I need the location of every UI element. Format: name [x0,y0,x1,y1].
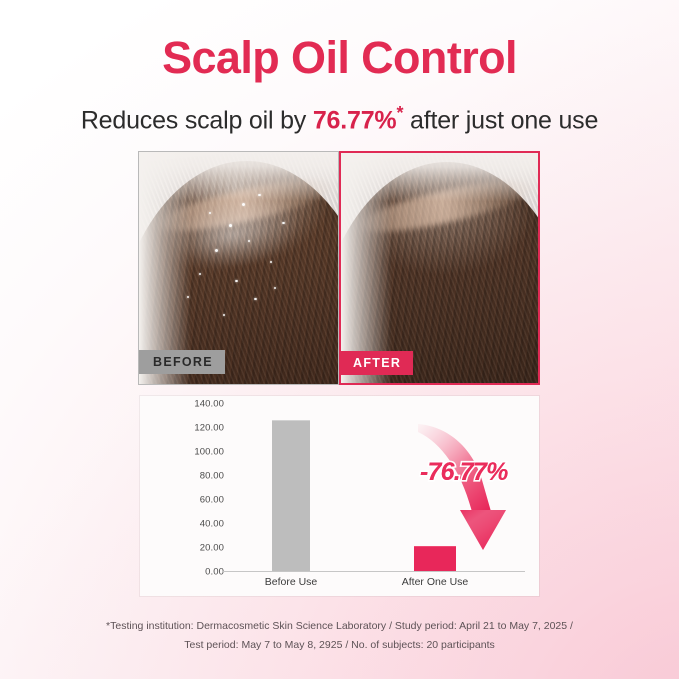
y-tick-label: 140.00 [150,399,224,410]
y-tick-label: 60.00 [150,495,224,506]
footnote: *Testing institution: Dermacosmetic Skin… [0,617,679,656]
subtitle-trail: after just one use [403,106,598,134]
arrow-head [460,510,506,550]
subtitle-highlight-value: 76.77% [313,106,397,134]
scalp-flake [187,296,189,298]
after-label-badge: AFTER [339,351,413,375]
category-label-after: After One Use [402,576,469,588]
subtitle-lead: Reduces scalp oil by [81,106,313,134]
page-title: Scalp Oil Control [0,34,679,81]
y-tick-label: 100.00 [150,447,224,458]
oil-reduction-bar-chart: 140.00120.00100.0080.0060.0040.0020.000.… [140,396,539,596]
arrow-swoosh-tail [418,424,494,522]
arrow-head-shade [460,510,506,550]
before-photo: BEFORE [138,151,339,385]
scalp-flake [282,222,285,224]
reduction-percentage-outline: -76.77% [420,458,508,487]
reduction-percentage: -76.77% [420,458,508,487]
y-axis-tick-labels: 140.00120.00100.0080.0060.0040.0020.000.… [150,404,224,572]
y-tick-label: 120.00 [150,423,224,434]
promo-graphic: Scalp Oil Control Reduces scalp oil by 7… [0,0,679,679]
before-label-badge: BEFORE [139,350,225,374]
after-photo [339,151,540,385]
scalp-flake [235,280,238,283]
y-tick-label: 0.00 [150,567,224,578]
y-tick-label: 20.00 [150,543,224,554]
photo-left-fade [341,153,392,383]
bar-before-use [272,420,310,571]
before-after-comparison: BEFORE AFTER [138,151,541,385]
bar-after-one-use [414,546,456,571]
scalp-flake [229,224,233,227]
x-axis-baseline [222,571,525,572]
category-label-before: Before Use [265,576,318,588]
x-axis-category-labels: Before Use After One Use [226,576,525,592]
y-tick-label: 40.00 [150,519,224,530]
footnote-line-2: Test period: May 7 to May 8, 2925 / No. … [0,636,679,655]
footnote-line-1: *Testing institution: Dermacosmetic Skin… [0,617,679,636]
scalp-image-after [341,153,538,383]
subtitle: Reduces scalp oil by 76.77%* after just … [0,103,679,135]
y-tick-label: 80.00 [150,471,224,482]
chart-plot-area: -76.77% -76.77% [226,404,525,572]
